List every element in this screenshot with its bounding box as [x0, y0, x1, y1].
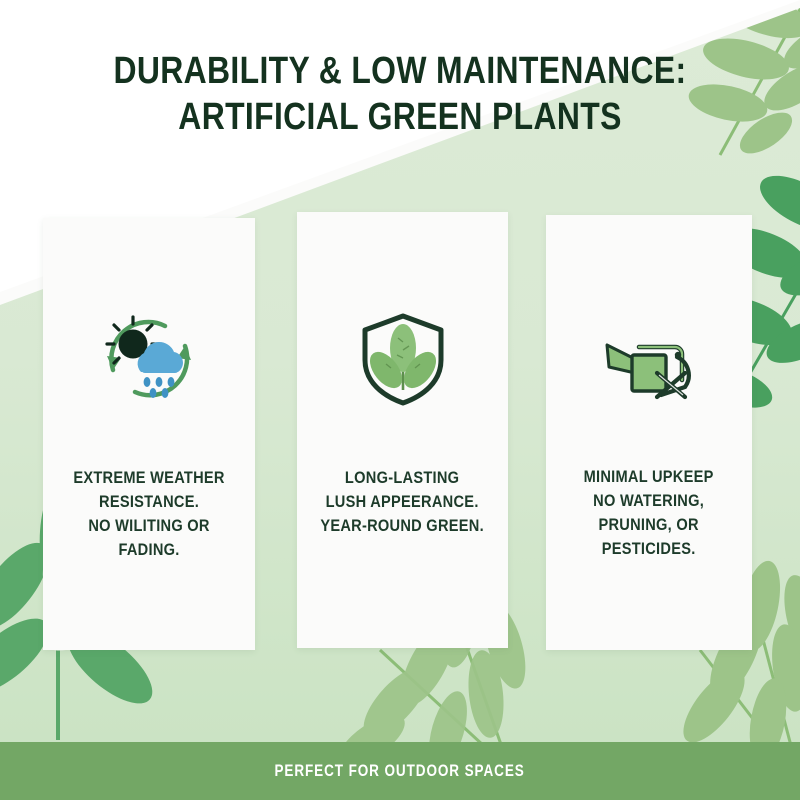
infographic-poster: DURABILITY & LOW MAINTENANCE: ARTIFICIAL… — [0, 0, 800, 800]
feature-card-weather[interactable]: EXTREME WEATHER RESISTANCE. NO WILITING … — [43, 218, 255, 650]
feature-card-upkeep-text: MINIMAL UPKEEP NO WATERING, PRUNING, OR … — [584, 465, 714, 562]
title-line-1: DURABILITY & LOW MAINTENANCE: — [64, 48, 736, 94]
feature-card-upkeep[interactable]: MINIMAL UPKEEP NO WATERING, PRUNING, OR … — [546, 215, 752, 650]
feature-card-appearance[interactable]: LONG-LASTING LUSH APPEERANCE. YEAR-ROUND… — [297, 212, 508, 648]
watering-can-no-pruning-icon — [599, 307, 699, 407]
footer-text: PERFECT FOR OUTDOOR SPACES — [275, 762, 525, 781]
footer-banner: PERFECT FOR OUTDOOR SPACES — [0, 742, 800, 800]
page-title: DURABILITY & LOW MAINTENANCE: ARTIFICIAL… — [0, 48, 800, 141]
feature-card-appearance-text: LONG-LASTING LUSH APPEERANCE. YEAR-ROUND… — [321, 466, 485, 538]
feature-card-weather-text: EXTREME WEATHER RESISTANCE. NO WILITING … — [73, 466, 224, 563]
weather-cycle-icon — [99, 308, 199, 408]
shield-leaf-icon — [353, 308, 453, 408]
title-line-2: ARTIFICIAL GREEN PLANTS — [64, 94, 736, 140]
